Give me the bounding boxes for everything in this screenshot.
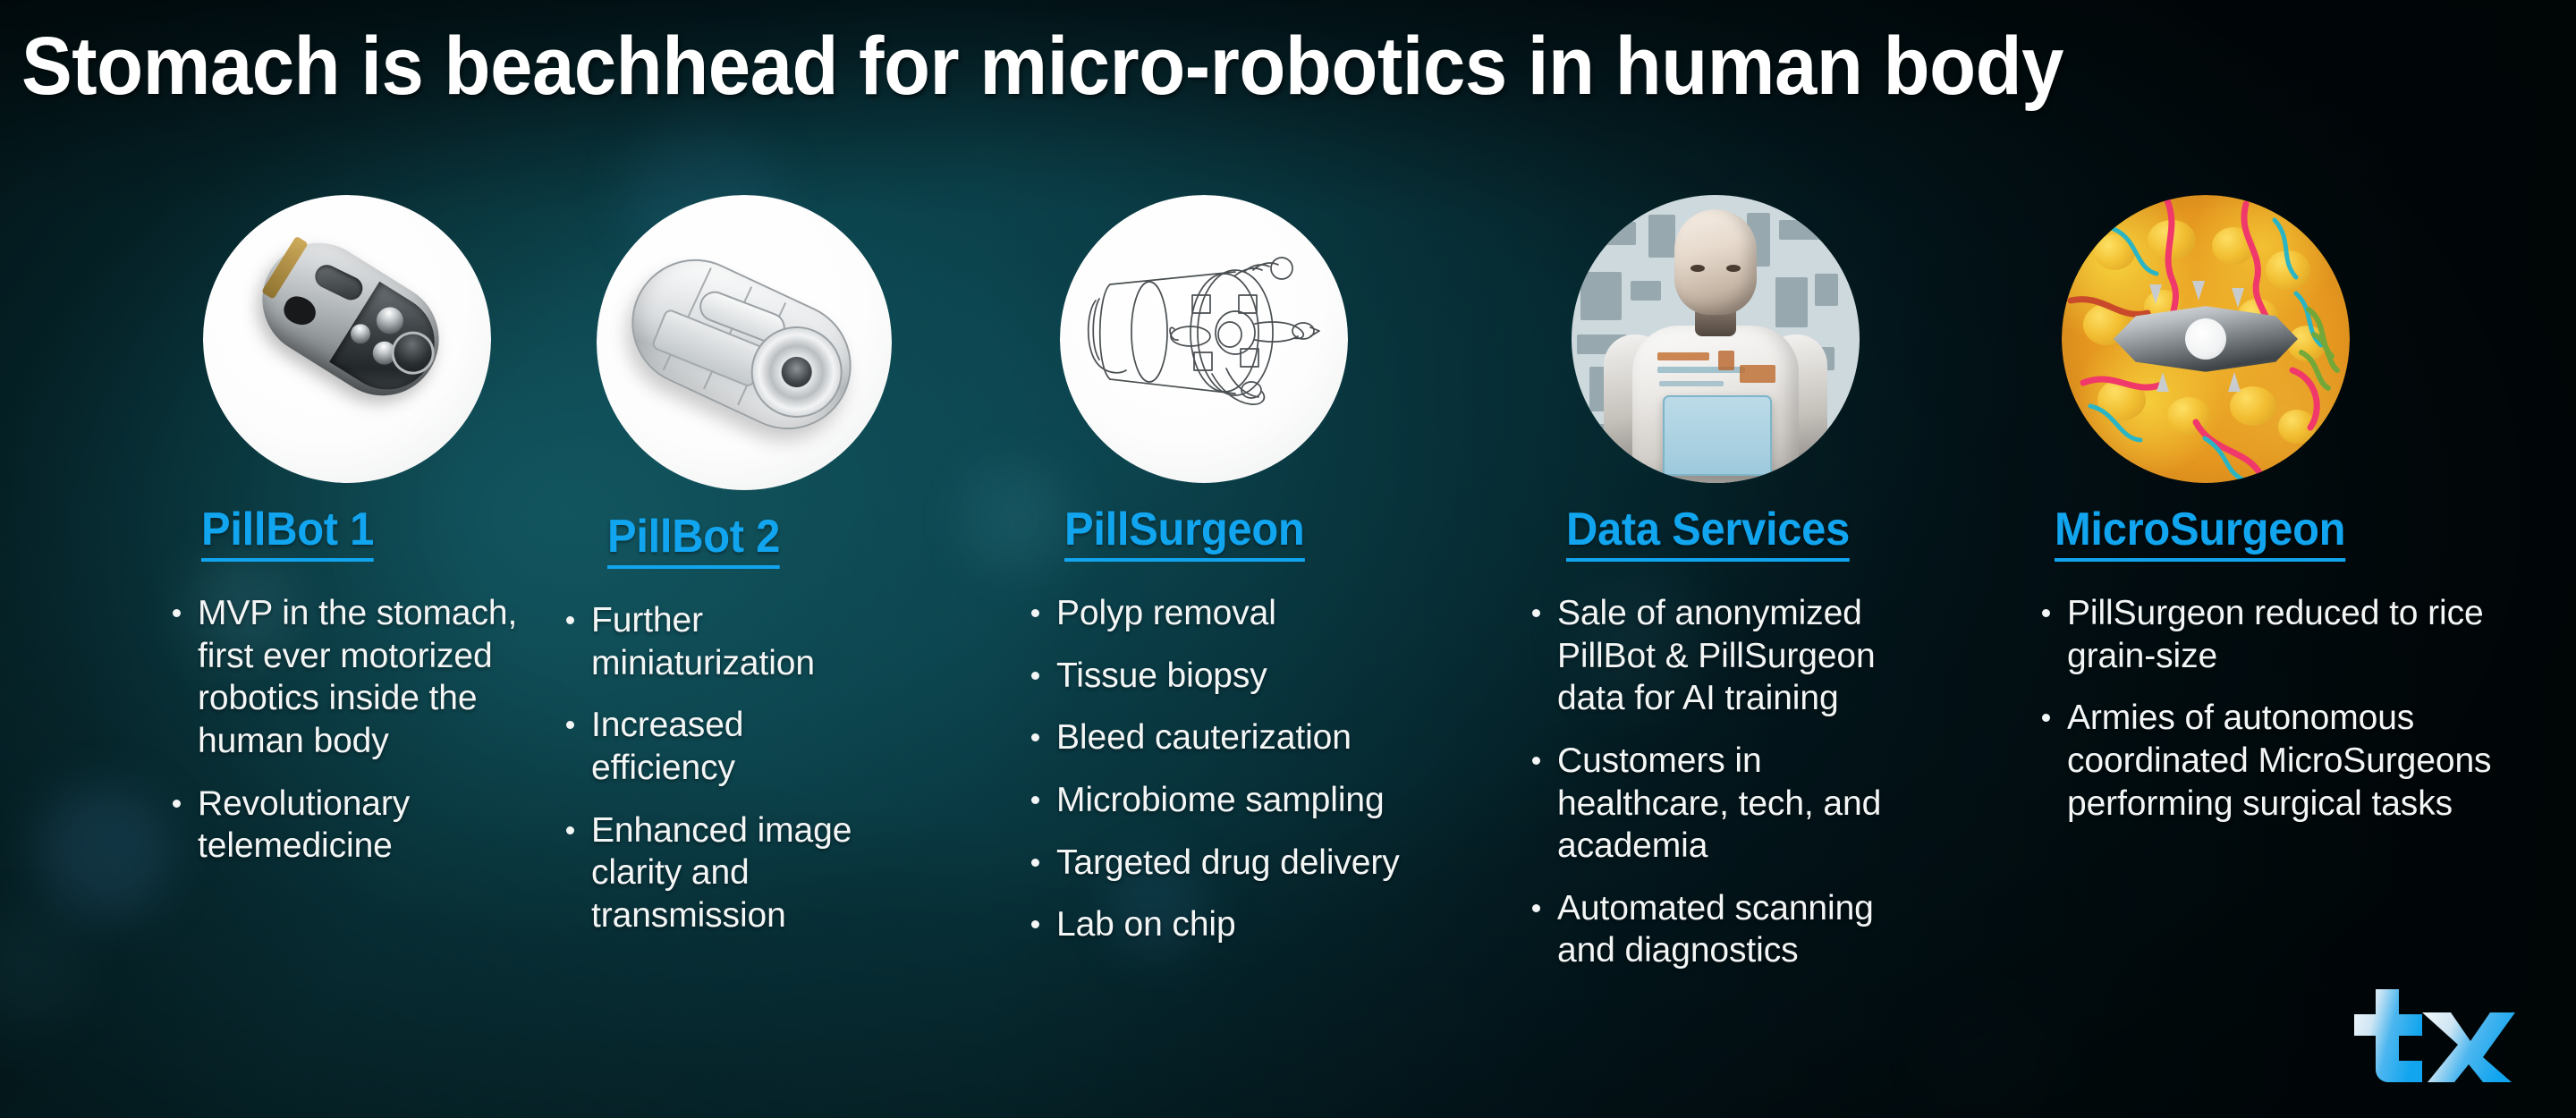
circuit-chip <box>1775 277 1808 327</box>
column-pillsurgeon: PillSurgeon Polyp removal Tissue biopsy … <box>975 195 1476 966</box>
column-data-services: Data Services Sale of anonymized PillBot… <box>1476 195 1986 992</box>
list-item: Sale of anonymized PillBot & PillSurgeon… <box>1525 592 1928 720</box>
bullet-list-data-services: Sale of anonymized PillBot & PillSurgeon… <box>1525 592 1928 972</box>
heading-wrap-pillbot-2: PillBot 2 <box>607 512 975 569</box>
list-item: Armies of autonomous coordinated MicroSu… <box>2035 697 2500 825</box>
heading-wrap-microsurgeon: MicroSurgeon <box>2055 504 2576 562</box>
heading-link-microsurgeon[interactable]: MicroSurgeon <box>2055 504 2345 562</box>
list-item: Tissue biopsy <box>1024 655 1476 698</box>
microsurgeon-spike <box>2228 372 2241 392</box>
microsurgeon-spike <box>2232 288 2244 308</box>
torso-decal <box>1740 365 1775 383</box>
slide-title: Stomach is beachhead for micro-robotics … <box>21 23 2371 111</box>
robot-head <box>1674 209 1757 315</box>
heading-wrap-pillbot-1: PillBot 1 <box>201 504 487 562</box>
bullet-list-pillsurgeon: Polyp removal Tissue biopsy Bleed cauter… <box>1024 592 1476 945</box>
logo-letter-x <box>2422 1012 2515 1082</box>
list-item: Increased efficiency <box>559 704 868 789</box>
list-item: Bleed cauterization <box>1024 716 1476 759</box>
capsule-nozzle-core <box>776 351 817 392</box>
pillsurgeon-line-art-sketch <box>1060 195 1348 483</box>
list-item: Polyp removal <box>1024 592 1476 635</box>
heading-link-pillsurgeon[interactable]: PillSurgeon <box>1064 504 1304 562</box>
bullet-list-microsurgeon: PillSurgeon reduced to rice grain-size A… <box>2035 592 2500 825</box>
column-pillbot-1: PillBot 1 MVP in the stomach, first ever… <box>0 195 487 887</box>
column-pillbot-2: PillBot 2 Further miniaturization Increa… <box>487 195 975 956</box>
circuit-chip <box>1815 274 1838 306</box>
microsurgeon-spike <box>2149 284 2162 304</box>
circuit-chip <box>1584 222 1636 245</box>
microsurgeon-in-tissue-illustration <box>2062 195 2350 483</box>
torso-decal <box>1657 352 1709 360</box>
list-item: Further miniaturization <box>559 599 868 684</box>
list-item: MVP in the stomach, first ever motorized… <box>165 592 523 762</box>
logo-letter-t <box>2354 989 2422 1082</box>
heading-link-pillbot-2[interactable]: PillBot 2 <box>607 512 780 569</box>
humanoid-robot-with-tablet-photo <box>1572 195 1860 483</box>
pillbot-2-device-render <box>597 195 892 490</box>
microsurgeon-core <box>2185 318 2226 360</box>
column-microsurgeon: MicroSurgeon PillSurgeon reduced to rice… <box>1986 195 2576 844</box>
capsule-port <box>311 261 367 304</box>
tx-logo <box>2336 986 2515 1084</box>
heading-link-pillbot-1[interactable]: PillBot 1 <box>201 504 374 562</box>
torso-decal <box>1718 351 1734 370</box>
circuit-chip <box>1580 272 1622 320</box>
list-item: PillSurgeon reduced to rice grain-size <box>2035 592 2500 677</box>
robot-eye-left <box>1690 265 1705 272</box>
list-item: Lab on chip <box>1024 903 1476 946</box>
microsurgeon-spike <box>2192 281 2205 301</box>
list-item: Customers in healthcare, tech, and acade… <box>1525 740 1928 868</box>
circuit-chip <box>1648 215 1675 258</box>
list-item: Enhanced image clarity and transmission <box>559 809 868 937</box>
presentation-slide: Stomach is beachhead for micro-robotics … <box>0 0 2576 1118</box>
list-item: Automated scanning and diagnostics <box>1525 887 1928 972</box>
heading-wrap-data-services: Data Services <box>1566 504 1986 562</box>
bullet-list-pillbot-2: Further miniaturization Increased effici… <box>559 599 868 936</box>
torso-decal <box>1659 381 1724 386</box>
capsule-aperture <box>280 292 320 329</box>
bullet-list-pillbot-1: MVP in the stomach, first ever motorized… <box>165 592 523 867</box>
microsurgeon-spike <box>2157 372 2169 392</box>
list-item: Targeted drug delivery <box>1024 842 1476 885</box>
robot-eye-right <box>1726 265 1741 272</box>
heading-link-data-services[interactable]: Data Services <box>1566 504 1850 562</box>
circuit-chip <box>1779 220 1827 240</box>
circuit-chip <box>1631 281 1661 301</box>
pillsurgeon-sketch-svg <box>1060 195 1348 483</box>
list-item: Revolutionary telemedicine <box>165 783 523 868</box>
pillbot-1-device-photo <box>203 195 491 483</box>
robot-tablet <box>1663 395 1772 476</box>
tx-logo-svg <box>2336 986 2515 1084</box>
columns-container: PillBot 1 MVP in the stomach, first ever… <box>0 195 2576 992</box>
list-item: Microbiome sampling <box>1024 779 1476 822</box>
heading-wrap-pillsurgeon: PillSurgeon <box>1064 504 1476 562</box>
